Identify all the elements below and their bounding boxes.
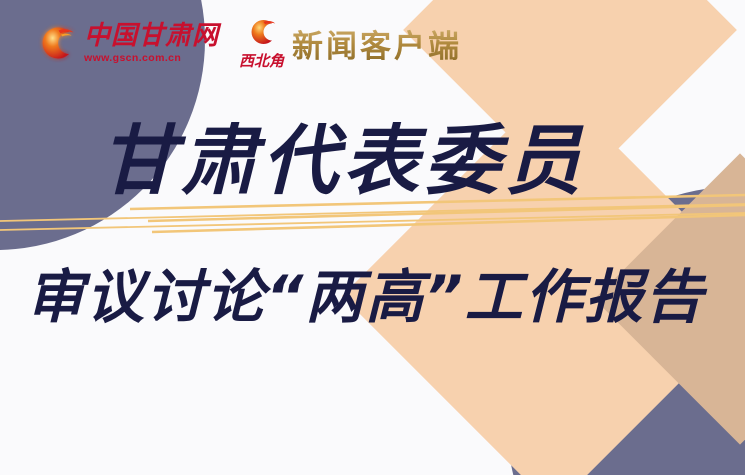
diamond-bottom-right	[594, 153, 745, 444]
xibeijiao-lockup: 西北角	[239, 17, 284, 69]
brand-gansu-net: 中国甘肃网 www.gscn.com.cn	[34, 21, 219, 65]
circle-bottom-right	[507, 186, 745, 475]
accent-line-1	[130, 195, 745, 209]
accent-line-5	[0, 213, 745, 230]
gansu-net-droplet-logo-icon	[34, 21, 78, 65]
accent-line-2	[148, 205, 745, 221]
headline-line-1: 甘肃代表委员	[100, 123, 586, 199]
headline-line-2: 审议讨论“两高”工作报告	[26, 268, 705, 326]
brand-name-cn: 中国甘肃网	[84, 23, 219, 49]
gansu-net-wordmark: 中国甘肃网 www.gscn.com.cn	[84, 23, 219, 64]
banner-header: 中国甘肃网 www.gscn.com.cn	[0, 0, 462, 86]
news-client-app-name: 新闻客户端	[292, 21, 462, 66]
accent-line-4	[0, 204, 745, 221]
brand-news-client: 西北角 新闻客户端	[239, 17, 462, 69]
news-banner: 中国甘肃网 www.gscn.com.cn	[0, 0, 745, 475]
diamond-center	[342, 84, 745, 475]
xibeijiao-droplet-logo-icon	[245, 17, 279, 51]
brand-url: www.gscn.com.cn	[84, 53, 219, 64]
accent-line-3	[152, 215, 745, 232]
xibeijiao-sub-name: 西北角	[239, 54, 284, 69]
